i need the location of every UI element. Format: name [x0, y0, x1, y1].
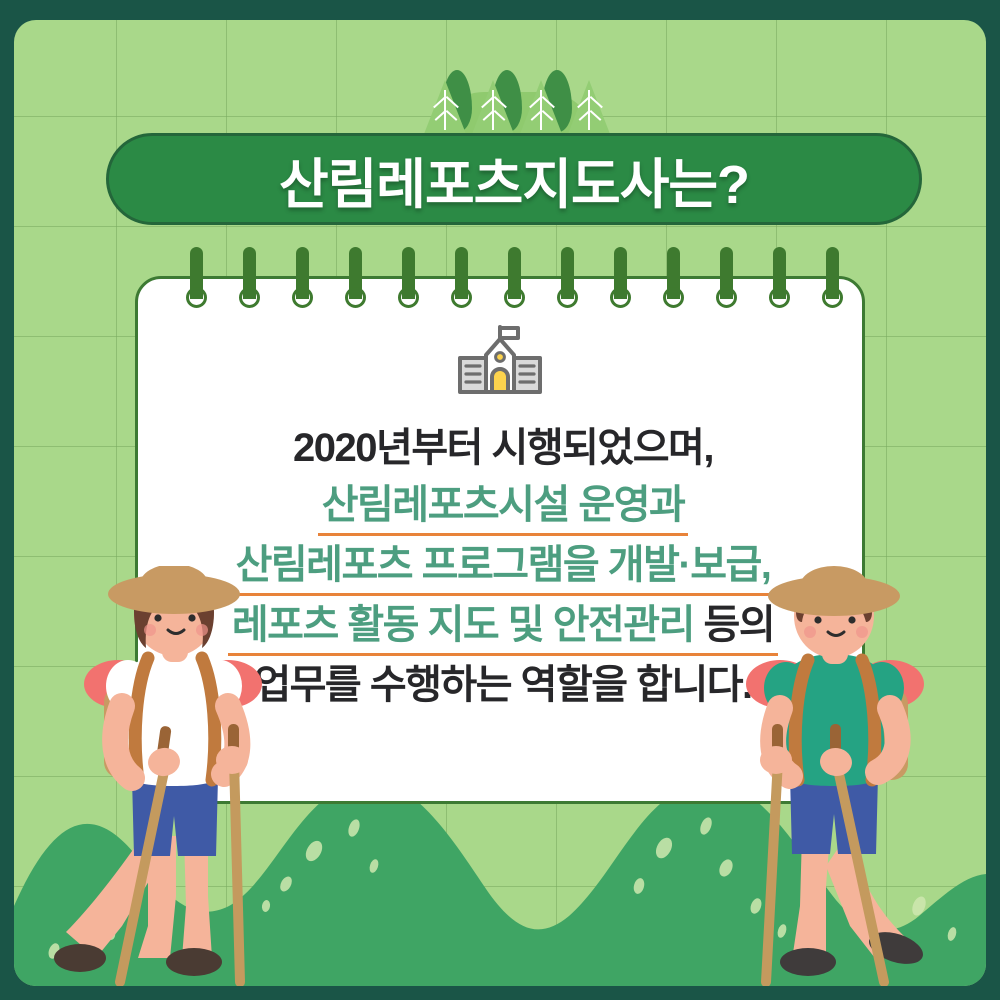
spiral-ring-icon: [557, 247, 577, 313]
tree-branch-detail: [588, 90, 590, 130]
spiral-ring-icon: [769, 247, 789, 313]
body-line-1: 2020년부터 시행되었으며,: [138, 419, 868, 476]
spiral-ring-icon: [822, 247, 842, 313]
page-title: 산림레포츠지도사는?: [279, 140, 749, 219]
spiral-ring-icon: [345, 247, 365, 313]
spiral-ring-icon: [504, 247, 524, 313]
title-banner: 산림레포츠지도사는?: [106, 133, 922, 225]
spiral-ring-icon: [292, 247, 312, 313]
body-line-4: 레포츠 활동 지도 및 안전관리 등의: [228, 596, 778, 656]
spiral-ring-icon: [663, 247, 683, 313]
spiral-binding: [138, 247, 868, 317]
spiral-ring-icon: [610, 247, 630, 313]
spiral-ring-icon: [239, 247, 259, 313]
tree-cluster-decoration: [414, 60, 614, 140]
poster-inner-panel: 산림레포츠지도사는?: [14, 20, 986, 986]
poster-root: 산림레포츠지도사는?: [0, 0, 1000, 1000]
spiral-ring-icon: [398, 247, 418, 313]
tree-branch-detail: [540, 90, 542, 130]
spiral-ring-icon: [451, 247, 471, 313]
tree-branch-detail: [492, 90, 494, 130]
tree-branch-detail: [444, 90, 446, 130]
body-line-3: 산림레포츠 프로그램을 개발·보급,: [232, 536, 775, 596]
spiral-ring-icon: [186, 247, 206, 313]
body-line-2: 산림레포츠시설 운영과: [318, 476, 689, 536]
hiker-female-character: [52, 566, 302, 986]
hiker-male-character: [714, 566, 964, 986]
body-line-2-wrap: 산림레포츠시설 운영과: [138, 476, 868, 536]
spiral-ring-icon: [716, 247, 736, 313]
school-building-icon: [452, 325, 548, 399]
